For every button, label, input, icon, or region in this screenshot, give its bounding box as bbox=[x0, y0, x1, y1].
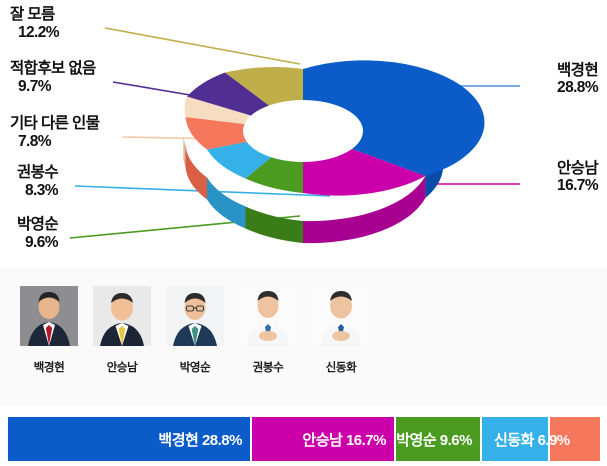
candidate-photo-백경현 bbox=[20, 286, 78, 346]
donut-3d bbox=[183, 60, 484, 243]
callout-박영순: 박영순 9.6% bbox=[17, 216, 58, 251]
summary-segment-label: 안승남 16.7% bbox=[302, 429, 386, 450]
candidate-name: 박영순 bbox=[166, 359, 224, 375]
side-박영순 bbox=[246, 207, 304, 244]
candidate-card-백경현[interactable]: 백경현 bbox=[20, 286, 78, 375]
candidate-name: 안승남 bbox=[93, 359, 151, 375]
candidate-card-권봉수[interactable]: 권봉수 bbox=[239, 286, 297, 375]
callout-적합후보없음: 적합후보 없음 9.7% bbox=[10, 60, 96, 95]
candidate-photo-신동화 bbox=[312, 286, 370, 346]
callout-name: 백경현 bbox=[557, 62, 598, 79]
callout-name: 기타 다른 인물 bbox=[10, 115, 99, 132]
candidate-name: 신동화 bbox=[312, 359, 370, 375]
callout-name: 박영순 bbox=[17, 216, 58, 233]
callout-name: 잘 모름 bbox=[10, 6, 55, 23]
candidate-card-박영순[interactable]: 박영순 bbox=[166, 286, 224, 375]
callout-권봉수: 권봉수 8.3% bbox=[17, 164, 58, 199]
summary-segment-박영순[interactable]: 박영순 9.6% bbox=[396, 417, 480, 461]
candidate-name: 백경현 bbox=[20, 359, 78, 375]
callout-pct: 28.8% bbox=[557, 79, 598, 96]
leader-line-잘모름 bbox=[105, 28, 300, 64]
side-신동화 bbox=[207, 178, 246, 229]
donut-hole bbox=[243, 100, 363, 162]
callout-name: 권봉수 bbox=[17, 164, 58, 181]
callout-pct: 9.6% bbox=[17, 234, 58, 251]
summary-segment-label: 박영순 9.6% bbox=[396, 429, 472, 450]
summary-segment-백경현[interactable]: 백경현 28.8% bbox=[8, 417, 250, 461]
callout-name: 적합후보 없음 bbox=[10, 60, 96, 77]
summary-segment-extra[interactable] bbox=[550, 417, 600, 461]
candidate-card-신동화[interactable]: 신동화 bbox=[312, 286, 370, 375]
candidate-photo-권봉수 bbox=[239, 286, 297, 346]
callout-pct: 12.2% bbox=[10, 24, 59, 41]
candidate-photo-박영순 bbox=[166, 286, 224, 346]
callout-안승남: 안승남 16.7% bbox=[557, 160, 598, 195]
callout-name: 안승남 bbox=[557, 160, 598, 177]
callout-pct: 16.7% bbox=[557, 177, 598, 194]
candidate-card-안승남[interactable]: 안승남 bbox=[93, 286, 151, 375]
callout-pct: 9.7% bbox=[10, 78, 96, 95]
callout-잘모름: 잘 모름 12.2% bbox=[10, 6, 59, 41]
candidate-photo-strip: 백경현 안승남 bbox=[0, 268, 607, 406]
donut-chart-area: 잘 모름 12.2% 적합후보 없음 9.7% 기타 다른 인물 7.8% 권봉… bbox=[0, 0, 607, 266]
callout-백경현: 백경현 28.8% bbox=[557, 62, 598, 97]
callout-기타다른인물: 기타 다른 인물 7.8% bbox=[10, 115, 99, 150]
summary-segment-안승남[interactable]: 안승남 16.7% bbox=[252, 417, 394, 461]
candidate-photo-안승남 bbox=[93, 286, 151, 346]
infographic-root: 잘 모름 12.2% 적합후보 없음 9.7% 기타 다른 인물 7.8% 권봉… bbox=[0, 0, 607, 466]
callout-pct: 8.3% bbox=[17, 182, 58, 199]
side-기타 bbox=[183, 131, 185, 167]
candidate-name: 권봉수 bbox=[239, 359, 297, 375]
summary-segment-신동화[interactable] bbox=[482, 417, 548, 461]
summary-segment-label: 백경현 28.8% bbox=[158, 429, 242, 450]
callout-pct: 7.8% bbox=[10, 133, 99, 150]
